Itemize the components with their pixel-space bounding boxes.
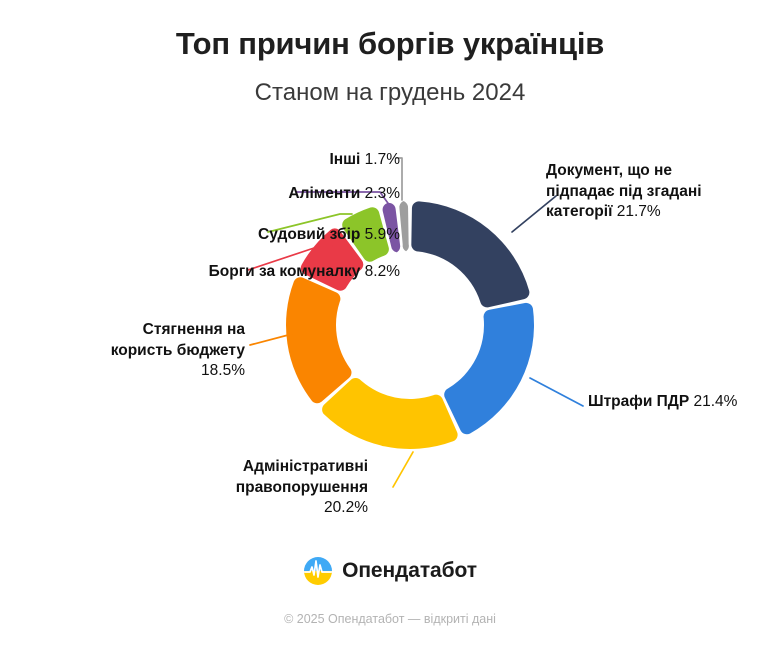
donut-slice[interactable] bbox=[286, 277, 351, 403]
leader-line bbox=[530, 378, 583, 406]
callout-alimony-value: 2.3% bbox=[365, 185, 400, 202]
callout-budget-recovery-value: 18.5% bbox=[201, 362, 245, 379]
brand-lockup: Опендатабот bbox=[0, 556, 780, 586]
callout-utilities-value: 8.2% bbox=[365, 263, 400, 280]
donut-slice[interactable] bbox=[322, 378, 457, 449]
donut-slice[interactable] bbox=[444, 303, 534, 434]
callout-alimony: Аліменти 2.3% bbox=[110, 184, 400, 205]
callout-budget-recovery-label: Стягнення на користь бюджету bbox=[111, 321, 245, 359]
callout-utilities-label: Борги за комуналку bbox=[209, 263, 365, 280]
opendatabot-logo-icon bbox=[303, 556, 333, 586]
callout-document-value: 21.7% bbox=[617, 203, 661, 220]
callout-other: Інші 1.7% bbox=[170, 150, 400, 171]
brand-name: Опендатабот bbox=[342, 559, 477, 583]
callout-court-fee-label: Судовий збір bbox=[258, 226, 365, 243]
callout-utilities: Борги за комуналку 8.2% bbox=[0, 262, 400, 283]
callout-admin-offences-label: Адміністративні правопорушення bbox=[236, 458, 368, 496]
callout-traffic-fines: Штрафи ПДР 21.4% bbox=[588, 392, 780, 413]
callout-document: Документ, що не підпадає під згадані кат… bbox=[546, 161, 778, 223]
leader-line bbox=[250, 334, 292, 345]
callout-court-fee: Судовий збір 5.9% bbox=[60, 225, 400, 246]
donut-slice[interactable] bbox=[399, 201, 409, 251]
copyright-text: © 2025 Опендатабот — відкриті дані bbox=[0, 612, 780, 626]
callout-other-value: 1.7% bbox=[365, 151, 400, 168]
leader-line bbox=[393, 452, 413, 487]
callout-traffic-fines-label: Штрафи ПДР bbox=[588, 393, 693, 410]
callout-budget-recovery: Стягнення на користь бюджету 18.5% bbox=[0, 320, 245, 382]
callout-admin-offences: Адміністративні правопорушення 20.2% bbox=[0, 457, 368, 519]
donut-slice[interactable] bbox=[411, 201, 529, 307]
callout-court-fee-value: 5.9% bbox=[365, 226, 400, 243]
callout-other-label: Інші bbox=[329, 151, 364, 168]
callout-admin-offences-value: 20.2% bbox=[324, 499, 368, 516]
infographic-canvas: Топ причин боргів українців Станом на гр… bbox=[0, 0, 780, 650]
callout-traffic-fines-value: 21.4% bbox=[693, 393, 737, 410]
callout-alimony-label: Аліменти bbox=[288, 185, 364, 202]
